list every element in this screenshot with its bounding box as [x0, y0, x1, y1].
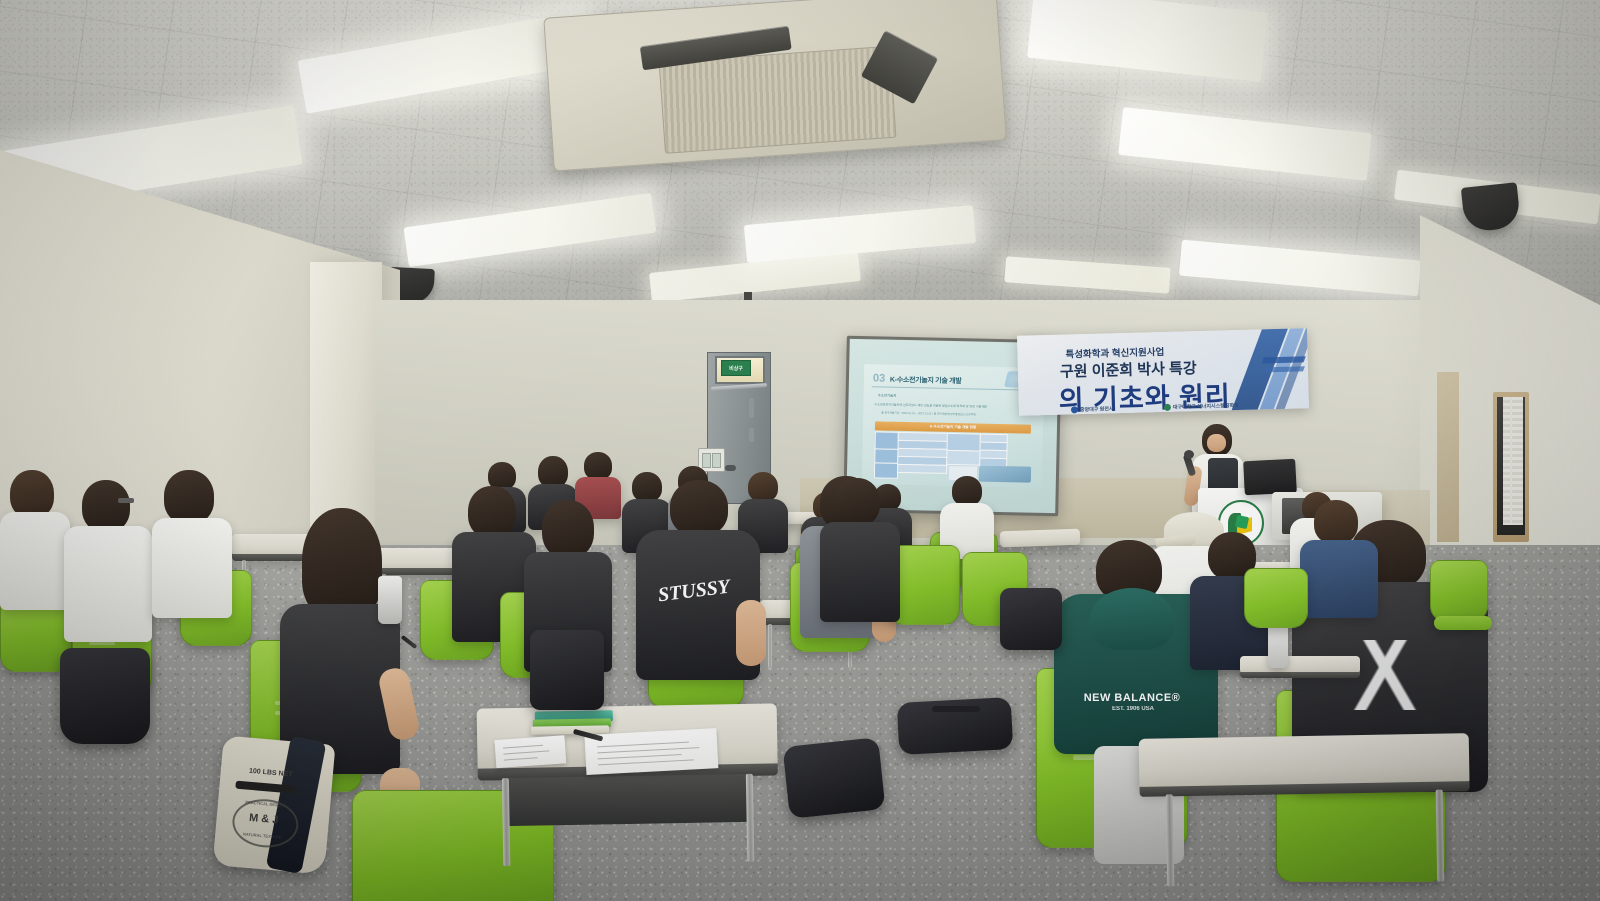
- door-knob[interactable]: [725, 465, 736, 471]
- student-torso: [152, 518, 232, 618]
- banner-logos-left: 중앙대구 원전시: [1071, 405, 1114, 413]
- canvas-bag[interactable]: 100 LBS NET M & J PRACTICAL DESIGN NATUR…: [213, 735, 336, 874]
- presenter-face: [1207, 434, 1226, 452]
- right-wall-panel: [1437, 372, 1459, 542]
- slide-number: 03: [873, 372, 885, 384]
- classroom-photo: 03 K-수소전기놀지 기술 개발 수소전기놀지 수소연료전지자동차에 검토되었…: [0, 0, 1600, 901]
- slide-title: K-수소전기놀지 기술 개발: [890, 375, 962, 386]
- chair-seat[interactable]: [1434, 616, 1492, 630]
- student-head: [468, 486, 516, 538]
- desk-leg: [1436, 790, 1445, 882]
- student-head: [670, 480, 728, 536]
- backpack[interactable]: [782, 737, 885, 819]
- student-head: [82, 480, 130, 532]
- door-handle[interactable]: [749, 398, 754, 418]
- desk-modesty-panel: [508, 774, 749, 826]
- new-balance-sublabel: EST. 1906 USA: [1088, 706, 1178, 712]
- desk-leg: [1166, 794, 1175, 886]
- banner-chevron: [1265, 366, 1305, 372]
- student-head: [834, 478, 880, 526]
- right-window: [1493, 392, 1529, 542]
- jacket-hood: [1090, 588, 1174, 650]
- worksheet[interactable]: [584, 728, 718, 775]
- handbag[interactable]: [530, 630, 604, 710]
- student-head: [1314, 500, 1358, 544]
- student-head: [10, 470, 54, 518]
- student: [1300, 500, 1378, 620]
- student: [820, 478, 900, 628]
- exit-sign-text: 비상구: [729, 365, 743, 372]
- student-head: [584, 452, 612, 480]
- desk[interactable]: [1240, 656, 1360, 682]
- chair[interactable]: [1430, 560, 1488, 622]
- notebook[interactable]: [531, 725, 609, 734]
- student-torso: [820, 522, 900, 622]
- door-lock[interactable]: [749, 428, 754, 442]
- event-banner: 특성화학과 혁신지원사업 구원 이준희 박사 특강 의 기초와 원리 중앙대구 …: [1017, 328, 1309, 416]
- banner-chevron: [1262, 356, 1306, 363]
- student-head: [164, 470, 214, 524]
- window-blind[interactable]: [1503, 397, 1523, 525]
- slide-table-cell: [897, 464, 947, 474]
- slide-bullet-1: 수소전기놀지: [878, 392, 897, 397]
- student-head: [302, 508, 382, 618]
- exit-sign: 비상구: [721, 360, 751, 376]
- backpack-strap: [932, 706, 980, 712]
- slide-bullet-3: 총 연구개발기간 : 2023.01.01 ~ 2027.12.31 / 총 연…: [881, 411, 976, 417]
- student: [62, 480, 154, 650]
- student: STUSSY: [636, 480, 766, 710]
- slide-table-cell: [946, 433, 980, 452]
- student: [152, 470, 236, 620]
- desk-leg: [746, 774, 755, 862]
- podium-monitor: [1243, 459, 1297, 496]
- student-glasses: [118, 498, 134, 503]
- blind-cord[interactable]: [1510, 397, 1512, 523]
- student-head: [952, 476, 982, 506]
- slide-bullet-2: 수소연료전지자동차에 검토되었으 제반 성능을 적용한 정밀수소화 최적화 및 …: [874, 402, 986, 408]
- water-bottle[interactable]: [1268, 622, 1288, 668]
- microphone-head: [1184, 450, 1194, 459]
- student-torso: [1300, 540, 1378, 618]
- student-torso: [0, 512, 70, 610]
- shoulder-bag[interactable]: [60, 648, 150, 744]
- student-arm: [736, 600, 766, 666]
- slide-table-label: [874, 431, 898, 449]
- desk-leg: [768, 624, 772, 668]
- ceiling-air-conditioner: [543, 0, 1005, 170]
- worksheet[interactable]: [494, 735, 566, 768]
- chair[interactable]: [1244, 568, 1308, 628]
- backpack[interactable]: [1000, 588, 1062, 650]
- banner-logos-left-text: 중앙대구 원전시: [1080, 406, 1114, 413]
- slide-table-cell: [946, 450, 980, 466]
- new-balance-logo: NEW BALANCE®: [1074, 692, 1190, 704]
- foreground-desk[interactable]: [1139, 733, 1472, 889]
- presentation-slide: 03 K-수소전기놀지 기술 개발 수소전기놀지 수소연료전지자동차에 검토되었…: [862, 364, 1044, 488]
- student-head: [542, 500, 594, 558]
- thermos[interactable]: [378, 576, 402, 624]
- foreground-desk[interactable]: [477, 703, 780, 868]
- student-torso: [64, 526, 152, 642]
